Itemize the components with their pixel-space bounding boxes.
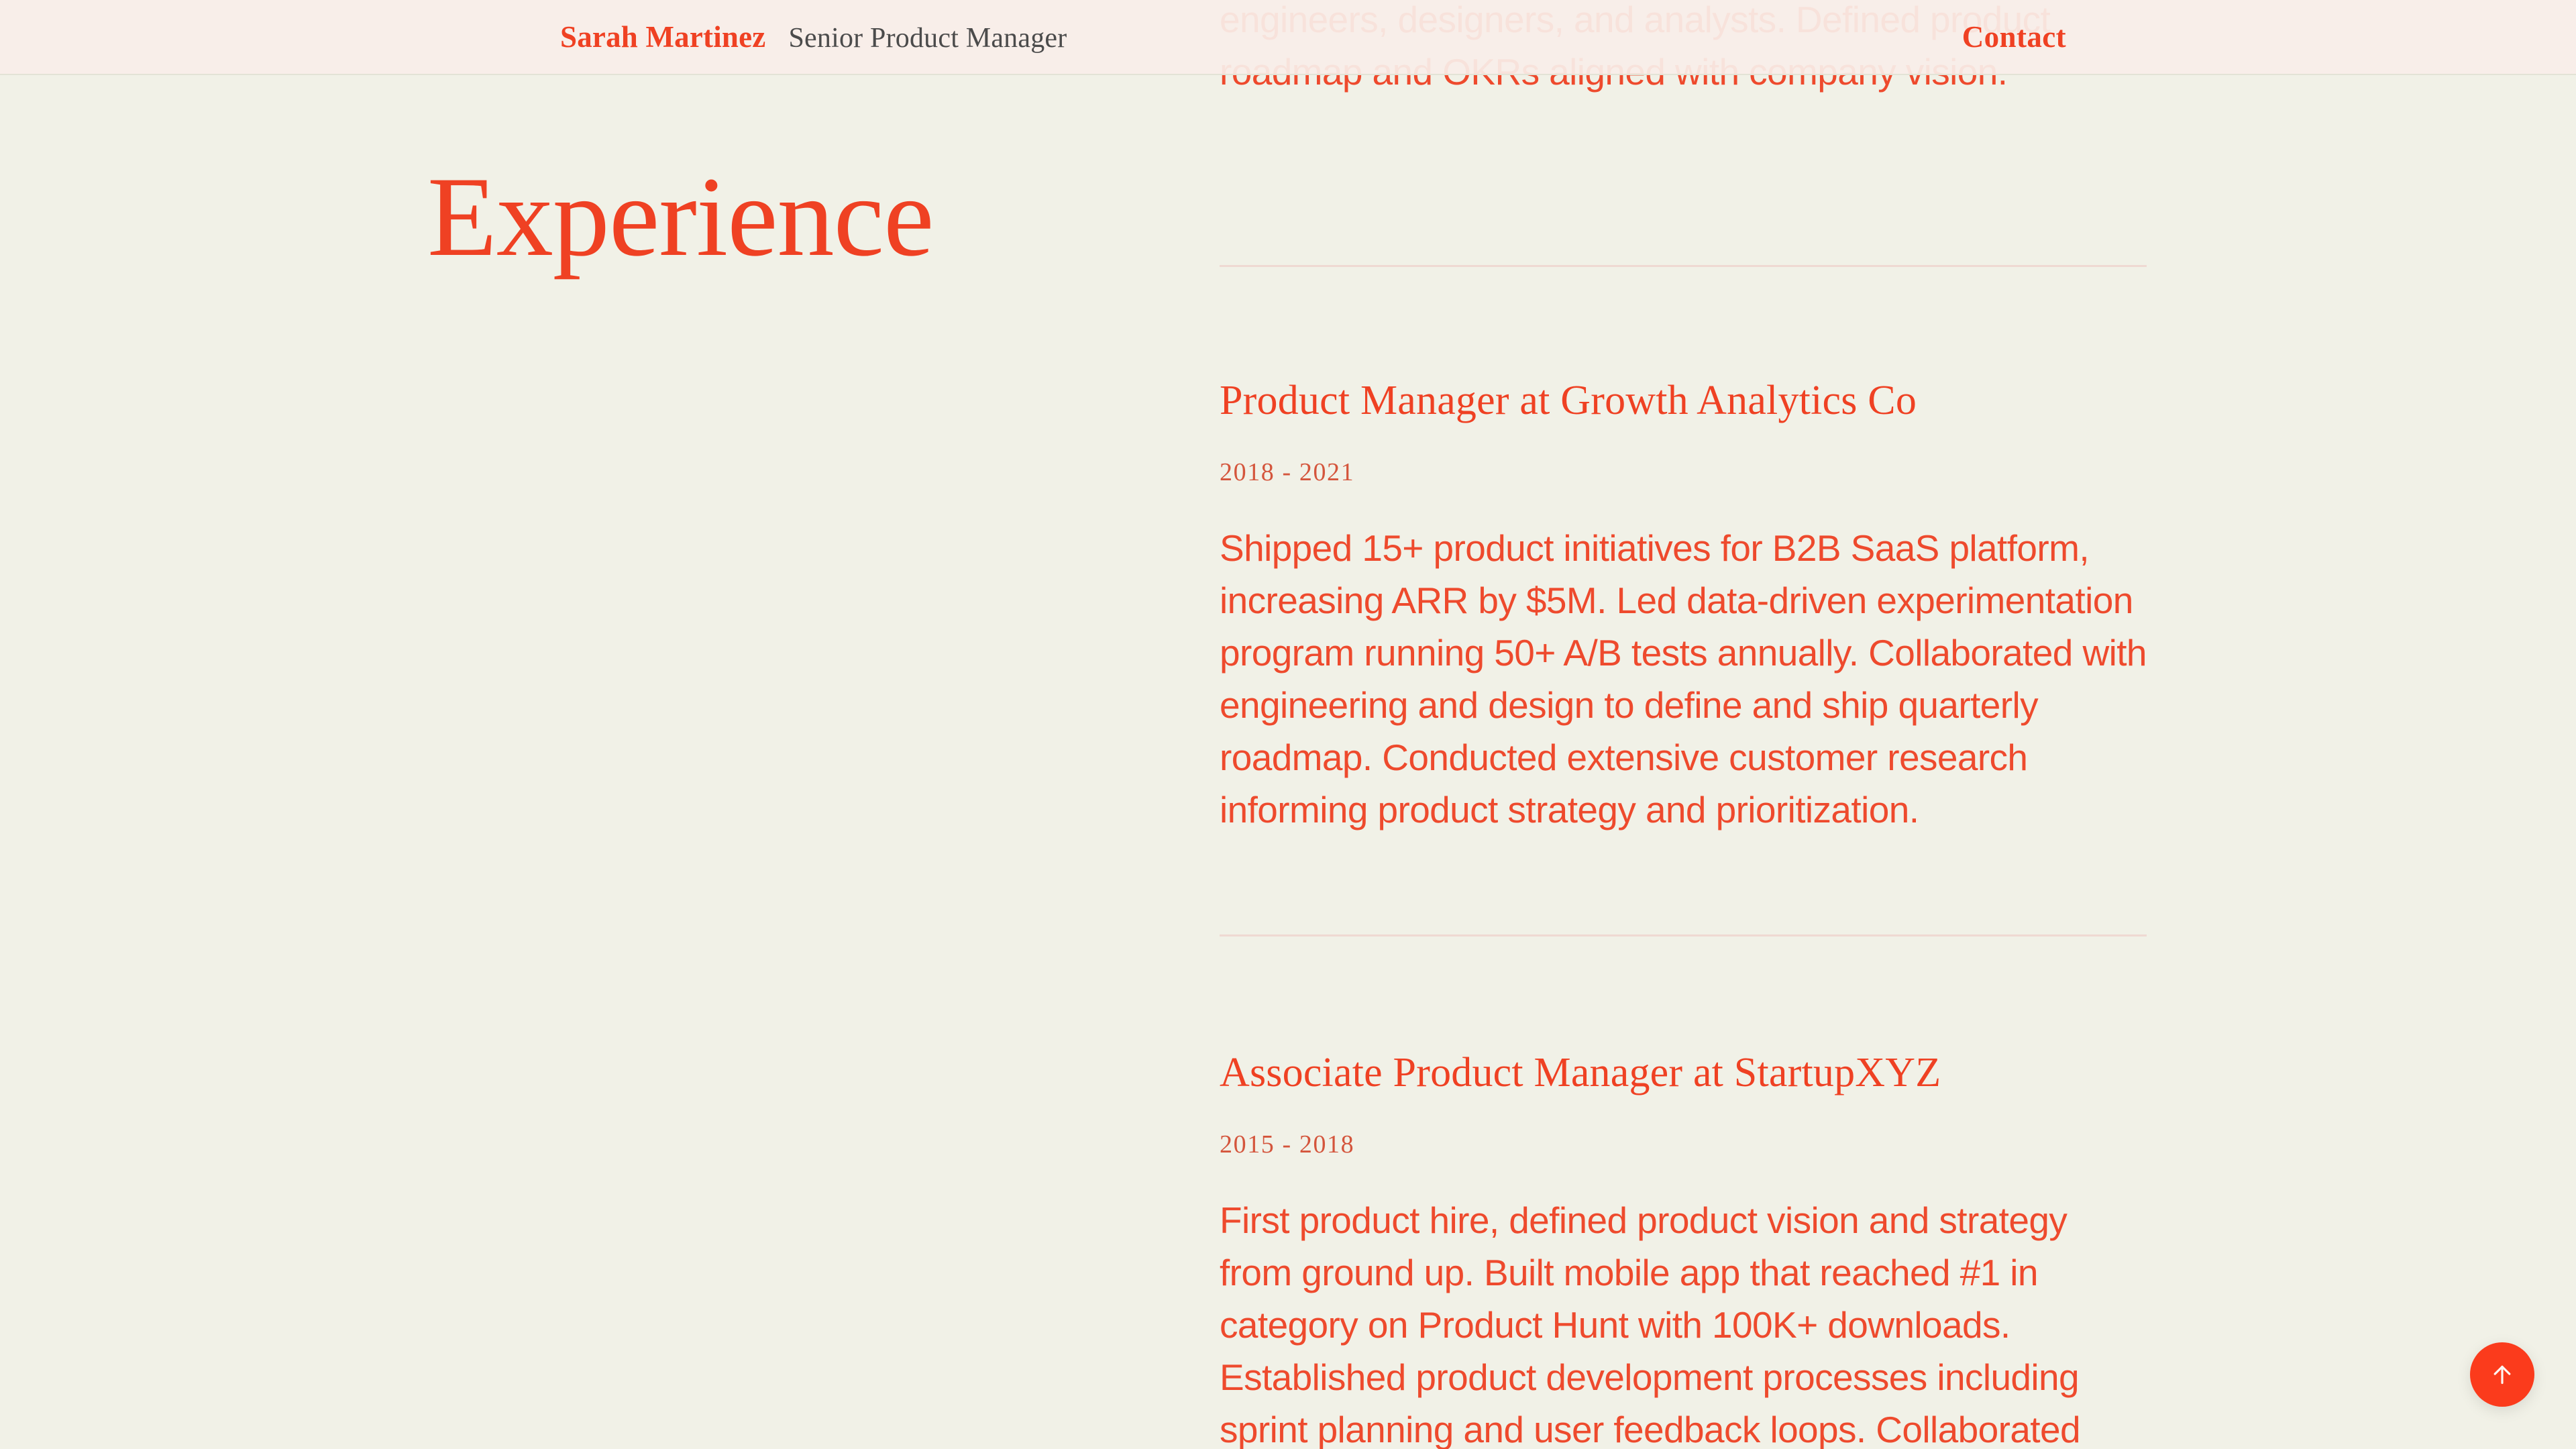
experience-entry-description: Shipped 15+ product initiatives for B2B … xyxy=(1220,522,2147,836)
page-root: engineers, designers, and analysts. Defi… xyxy=(0,0,2576,1449)
entry-divider xyxy=(1220,265,2147,267)
brand[interactable]: Sarah Martinez Senior Product Manager xyxy=(560,19,1067,54)
nav-link-contact[interactable]: Contact xyxy=(1962,19,2066,54)
experience-entry-title: Associate Product Manager at StartupXYZ xyxy=(1220,1049,1941,1097)
experience-entry-title: Product Manager at Growth Analytics Co xyxy=(1220,377,1917,425)
brand-role: Senior Product Manager xyxy=(788,22,1067,54)
brand-name[interactable]: Sarah Martinez xyxy=(560,19,765,54)
entry-divider xyxy=(1220,934,2147,936)
experience-entry-dates: 2018 - 2021 xyxy=(1220,458,1354,488)
site-header: Sarah Martinez Senior Product Manager Co… xyxy=(0,0,2576,75)
scroll-to-top-button[interactable] xyxy=(2470,1342,2534,1407)
page-title: Experience xyxy=(427,160,934,274)
experience-entry-description: First product hire, defined product visi… xyxy=(1220,1194,2147,1449)
arrow-up-icon xyxy=(2489,1361,2516,1388)
experience-entry-dates: 2015 - 2018 xyxy=(1220,1130,1354,1161)
